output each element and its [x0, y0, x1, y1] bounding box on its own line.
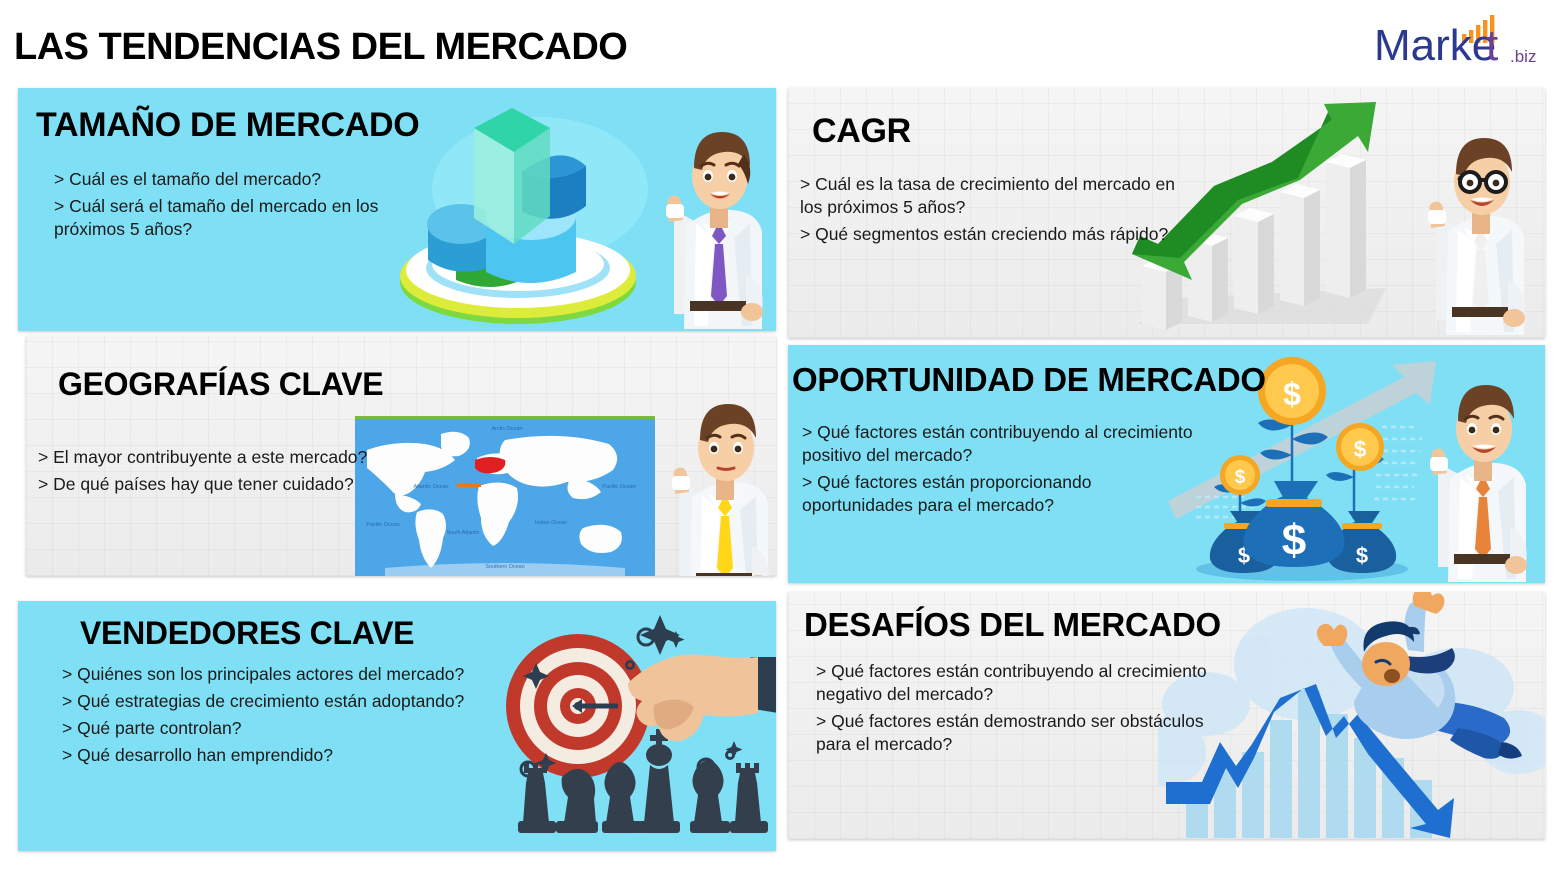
svg-text:$: $	[1282, 516, 1306, 565]
svg-text:.biz: .biz	[1510, 47, 1536, 66]
question-item: > Cuál será el tamaño del mercado en los…	[54, 195, 454, 241]
money-bag-icon: $	[1210, 511, 1278, 573]
panel-market-size[interactable]: TAMAÑO DE MERCADO > Cuál es el tamaño de…	[18, 88, 776, 331]
question-item: > Qué factores están proporcionando opor…	[802, 471, 1202, 517]
svg-text:Atlantic Ocean: Atlantic Ocean	[413, 484, 448, 490]
coin-icon: $	[1258, 357, 1326, 425]
svg-text:Arctic Ocean: Arctic Ocean	[492, 426, 523, 432]
world-map-illustration: Arctic Ocean Atlantic Ocean Pacific Ocea…	[355, 416, 655, 576]
panel-body-key-vendors: > Quiénes son los principales actores de…	[62, 663, 482, 771]
question-item: > Cuál es la tasa de crecimiento del mer…	[800, 173, 1200, 219]
svg-text:Marke: Marke	[1374, 21, 1496, 70]
question-item: > Cuál es el tamaño del mercado?	[54, 168, 454, 191]
page-title: LAS TENDENCIAS DEL MERCADO	[14, 26, 627, 69]
coin-icon: $	[1220, 455, 1260, 495]
panel-body-geographies: > El mayor contribuyente a este mercado?…	[38, 446, 368, 500]
businessman-character	[1400, 120, 1530, 335]
panel-title-key-vendors: VENDEDORES CLAVE	[80, 615, 414, 652]
panel-title-market-challenges: DESAFÍOS DEL MERCADO	[804, 606, 1221, 644]
svg-text:t: t	[1486, 21, 1498, 70]
panel-market-challenges[interactable]: DESAFÍOS DEL MERCADO > Qué factores está…	[788, 592, 1545, 839]
panel-body-opportunity: > Qué factores están contribuyendo al cr…	[802, 421, 1202, 521]
question-item: > Qué factores están contribuyendo al cr…	[802, 421, 1202, 467]
panel-geographies[interactable]: Arctic Ocean Atlantic Ocean Pacific Ocea…	[26, 336, 776, 576]
svg-text:Indian Ocean: Indian Ocean	[535, 520, 567, 526]
question-item: > Qué factores están contribuyendo al cr…	[816, 660, 1216, 706]
businessman-character	[644, 386, 774, 576]
question-item: > El mayor contribuyente a este mercado?	[38, 446, 368, 469]
svg-text:Pacific Ocean: Pacific Ocean	[602, 484, 635, 490]
panel-title-opportunity: OPORTUNIDAD DE MERCADO	[792, 361, 1266, 399]
panel-cagr[interactable]: CAGR > Cuál es la tasa de crecimiento de…	[788, 88, 1545, 338]
money-bag-icon: $	[1328, 511, 1396, 573]
panel-body-cagr: > Cuál es la tasa de crecimiento del mer…	[800, 173, 1200, 250]
question-item: > Quiénes son los principales actores de…	[62, 663, 482, 686]
businessman-character	[638, 114, 768, 329]
svg-text:$: $	[1354, 436, 1367, 462]
question-item: > Qué desarrollo han emprendido?	[62, 744, 482, 767]
panel-title-market-size: TAMAÑO DE MERCADO	[36, 106, 419, 145]
panel-opportunity[interactable]: $ $ $ $	[788, 345, 1545, 583]
infographic-page: LAS TENDENCIAS DEL MERCADO Marke t .biz	[0, 0, 1560, 869]
panel-title-cagr: CAGR	[812, 112, 911, 151]
panel-body-market-size: > Cuál es el tamaño del mercado? > Cuál …	[54, 168, 454, 245]
question-item: > Qué estrategias de crecimiento están a…	[62, 690, 482, 713]
svg-text:Southern Ocean: Southern Ocean	[485, 564, 524, 570]
svg-text:$: $	[1356, 543, 1368, 568]
question-item: > Qué segmentos están creciendo más rápi…	[800, 223, 1200, 246]
coin-icon: $	[1336, 423, 1384, 471]
svg-text:South Atlantic: South Atlantic	[447, 530, 480, 536]
svg-text:$: $	[1238, 543, 1250, 568]
money-bag-icon: $	[1244, 481, 1345, 567]
svg-text:Pacific Ocean: Pacific Ocean	[366, 522, 399, 528]
target-chess-hand-illustration	[478, 601, 776, 851]
svg-text:$: $	[1283, 376, 1301, 412]
panel-title-geographies: GEOGRAFÍAS CLAVE	[58, 366, 383, 403]
businessman-character	[1402, 367, 1532, 582]
question-item: > Qué parte controlan?	[62, 717, 482, 740]
question-item: > Qué factores están demostrando ser obs…	[816, 710, 1216, 756]
question-item: > De qué países hay que tener cuidado?	[38, 473, 368, 496]
panel-body-market-challenges: > Qué factores están contribuyendo al cr…	[816, 660, 1216, 760]
panel-key-vendors[interactable]: VENDEDORES CLAVE > Quiénes son los princ…	[18, 601, 776, 851]
svg-text:$: $	[1235, 467, 1246, 488]
market-biz-logo: Marke t .biz	[1370, 8, 1546, 70]
